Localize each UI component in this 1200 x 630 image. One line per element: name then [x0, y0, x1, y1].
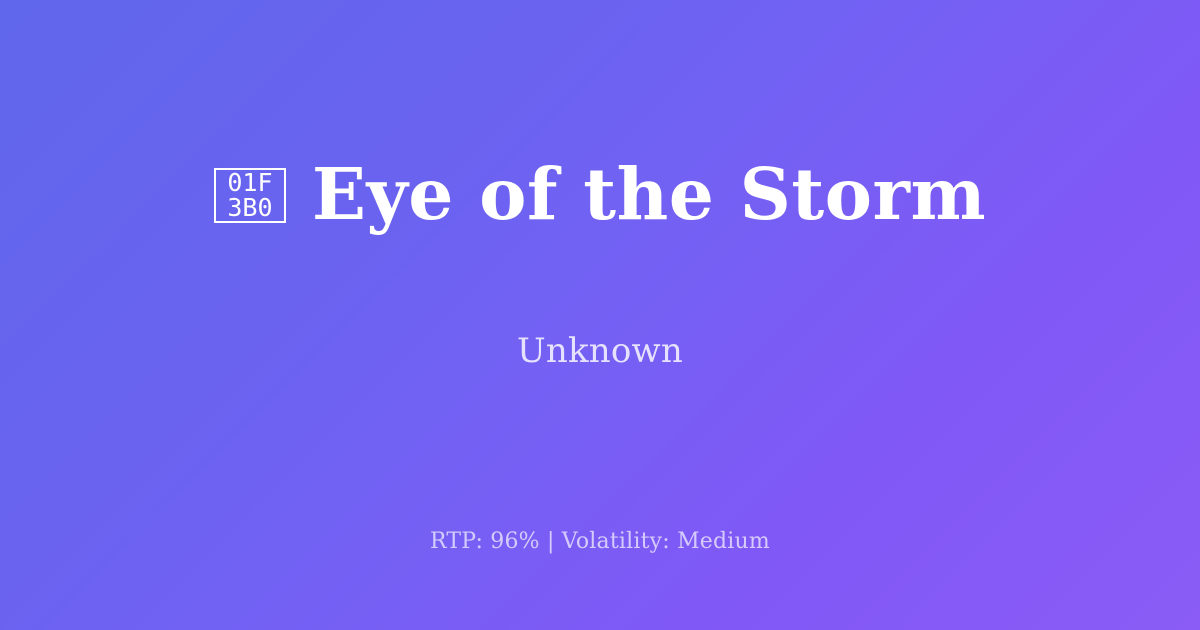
- page-title: Eye of the Storm: [312, 155, 986, 233]
- title-row: 01F 3B0 Eye of the Storm: [214, 107, 986, 280]
- hero-block: 01F 3B0 Eye of the Storm Unknown: [0, 0, 1200, 478]
- tofu-hex-bottom: 3B0: [227, 195, 272, 220]
- slot-machine-icon: 01F 3B0: [214, 168, 286, 223]
- game-provider-subtitle: Unknown: [517, 331, 683, 371]
- tofu-hex-top: 01F: [227, 170, 272, 195]
- game-meta-line: RTP: 96% | Volatility: Medium: [0, 527, 1200, 557]
- game-preview-card: 01F 3B0 Eye of the Storm Unknown RTP: 96…: [0, 0, 1200, 630]
